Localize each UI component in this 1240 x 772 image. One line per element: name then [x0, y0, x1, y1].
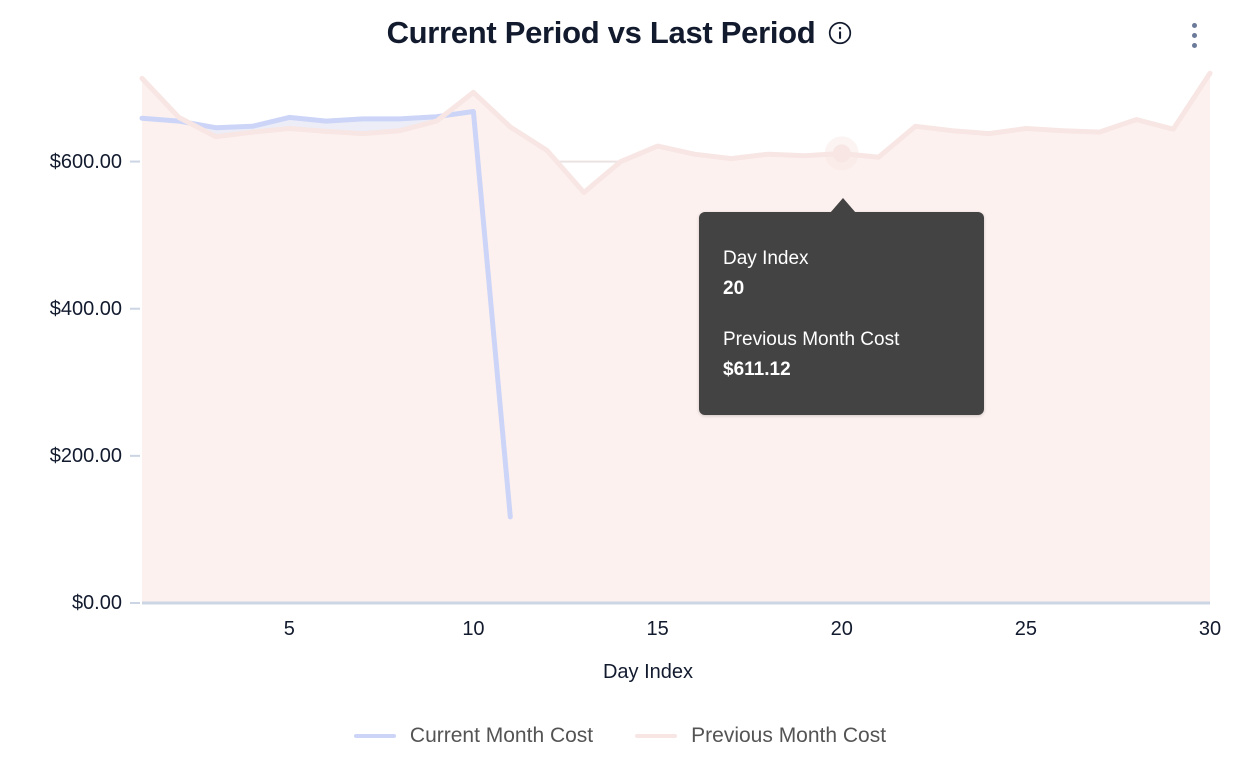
y-axis-tick-label: $200.00 — [2, 445, 122, 468]
legend-swatch — [354, 734, 396, 738]
tooltip-x-block: Day Index 20 — [723, 244, 960, 304]
chart-legend: Current Month CostPrevious Month Cost — [0, 722, 1240, 750]
x-axis-tick-label: 10 — [462, 618, 484, 641]
legend-label: Previous Month Cost — [691, 722, 886, 750]
tooltip-x-label: Day Index — [723, 244, 960, 274]
tooltip-series-label: Previous Month Cost — [723, 325, 960, 355]
chart-tooltip: Day Index 20 Previous Month Cost $611.12 — [699, 212, 984, 415]
tooltip-arrow — [830, 198, 856, 213]
x-axis-tick-label: 30 — [1199, 618, 1221, 641]
legend-label: Current Month Cost — [410, 722, 593, 750]
tooltip-series-value: $611.12 — [723, 355, 960, 385]
x-axis-tick-label: 25 — [1015, 618, 1037, 641]
y-axis-tick-label: $600.00 — [2, 151, 122, 174]
y-axis-tick-label: $400.00 — [2, 298, 122, 321]
chart-card: Current Period vs Last Period $0.00$200. — [0, 0, 1240, 772]
legend-item[interactable]: Previous Month Cost — [635, 722, 886, 750]
x-axis-tick-label: 20 — [831, 618, 853, 641]
tooltip-x-value: 20 — [723, 274, 960, 304]
legend-swatch — [635, 734, 677, 738]
plot-area[interactable]: $0.00$200.00$400.00$600.00 51015202530 D… — [0, 0, 1240, 700]
chart-canvas[interactable] — [0, 0, 1240, 700]
y-axis-tick-label: $0.00 — [2, 592, 122, 615]
legend-item[interactable]: Current Month Cost — [354, 722, 593, 750]
series-area — [142, 73, 1210, 603]
x-axis-title: Day Index — [0, 661, 1240, 684]
highlight-marker — [825, 136, 859, 170]
tooltip-series-block: Previous Month Cost $611.12 — [723, 325, 960, 385]
x-axis-tick-label: 15 — [646, 618, 668, 641]
series-areas — [142, 73, 1210, 603]
active-data-point[interactable] — [833, 144, 851, 162]
x-axis-tick-label: 5 — [284, 618, 295, 641]
